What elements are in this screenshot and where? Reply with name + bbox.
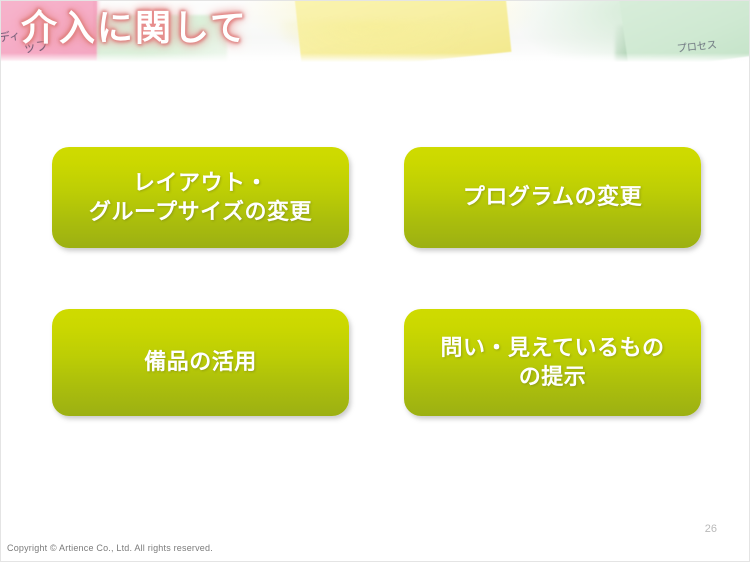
content-box-label: 問い・見えているもの の提示 [441,334,665,391]
banner-bottom-fade [1,53,750,63]
content-box-program-change[interactable]: プログラムの変更 [404,147,701,248]
page-title: 介入に関して [21,7,248,48]
content-box-label: プログラムの変更 [463,183,642,212]
content-box-grid: レイアウト・ グループサイズの変更 プログラムの変更 備品の活用 問い・見えてい… [52,147,701,417]
page-number: 26 [705,523,717,535]
copyright-notice: Copyright © Artience Co., Ltd. All right… [7,543,213,553]
content-box-question-visible[interactable]: 問い・見えているもの の提示 [404,309,701,416]
content-box-label: 備品の活用 [144,348,257,377]
content-box-label: レイアウト・ グループサイズの変更 [89,169,312,226]
content-box-equipment-use[interactable]: 備品の活用 [52,309,349,416]
handwriting-scribble-1: ディ [1,30,21,44]
content-box-layout-group-size[interactable]: レイアウト・ グループサイズの変更 [52,147,349,248]
presentation-slide: ディ ップ プロセス 介入に関して レイアウト・ グループサイズの変更 プログラ… [0,0,750,562]
